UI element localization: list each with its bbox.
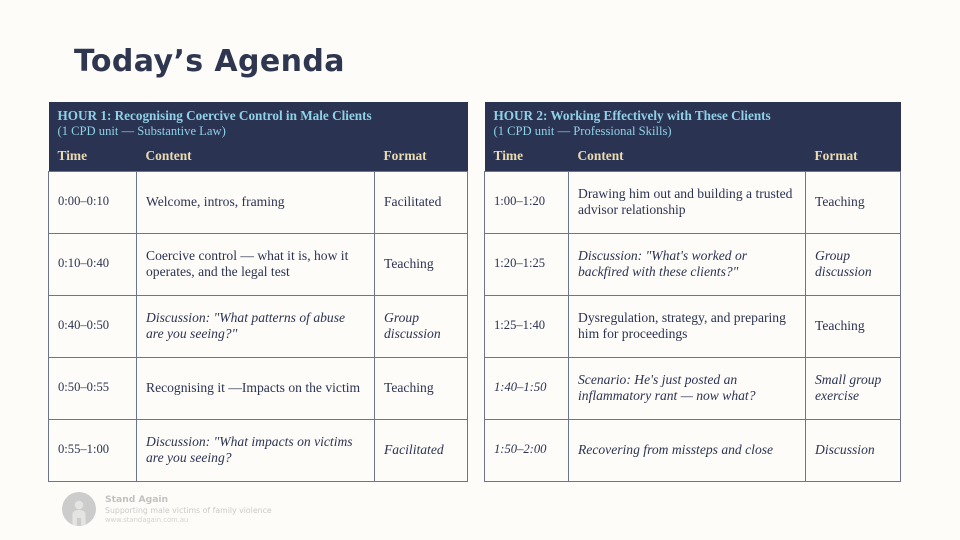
cell-format: Teaching [806, 171, 901, 233]
table-header-title-cell: HOUR 1: Recognising Coercive Control in … [49, 102, 468, 144]
cell-format: Group discussion [806, 233, 901, 295]
table-row: 0:55–1:00 Discussion: "What impacts on v… [49, 419, 468, 481]
table-row: 0:40–0:50 Discussion: "What patterns of … [49, 295, 468, 357]
cell-content: Welcome, intros, framing [137, 171, 375, 233]
table-row: 0:00–0:10 Welcome, intros, framing Facil… [49, 171, 468, 233]
cell-time: 1:00–1:20 [485, 171, 569, 233]
column-header-content: Content [569, 144, 806, 172]
column-header-time: Time [49, 144, 137, 172]
table-row: 1:40–1:50 Scenario: He's just posted an … [485, 357, 901, 419]
cell-format: Discussion [806, 419, 901, 481]
cell-format: Teaching [375, 357, 468, 419]
cell-time: 1:40–1:50 [485, 357, 569, 419]
brand-text-block: Stand Again Supporting male victims of f… [105, 494, 272, 524]
cell-format: Facilitated [375, 171, 468, 233]
column-header-format: Format [806, 144, 901, 172]
cell-content: Recovering from missteps and close [569, 419, 806, 481]
cell-format: Teaching [375, 233, 468, 295]
table-row: 1:20–1:25 Discussion: "What's worked or … [485, 233, 901, 295]
table-header-subtitle: (1 CPD unit — Professional Skills) [494, 124, 892, 139]
cell-format: Facilitated [375, 419, 468, 481]
table-row: 1:25–1:40 Dysregulation, strategy, and p… [485, 295, 901, 357]
cell-format: Teaching [806, 295, 901, 357]
cell-time: 0:55–1:00 [49, 419, 137, 481]
table-row: 1:50–2:00 Recovering from missteps and c… [485, 419, 901, 481]
table-row: 0:50–0:55 Recognising it —Impacts on the… [49, 357, 468, 419]
cell-time: 0:40–0:50 [49, 295, 137, 357]
table-row: 1:00–1:20 Drawing him out and building a… [485, 171, 901, 233]
cell-content: Discussion: "What's worked or backfired … [569, 233, 806, 295]
table-header-title: HOUR 1: Recognising Coercive Control in … [58, 109, 459, 124]
table-header-band: HOUR 1: Recognising Coercive Control in … [49, 102, 468, 144]
table-header-band: HOUR 2: Working Effectively with These C… [485, 102, 901, 144]
cell-content: Drawing him out and building a trusted a… [569, 171, 806, 233]
cell-content: Scenario: He's just posted an inflammato… [569, 357, 806, 419]
cell-content: Coercive control — what it is, how it op… [137, 233, 375, 295]
table-header-subtitle: (1 CPD unit — Substantive Law) [58, 124, 459, 139]
cell-time: 1:20–1:25 [485, 233, 569, 295]
cell-format: Small group exercise [806, 357, 901, 419]
cell-time: 1:25–1:40 [485, 295, 569, 357]
column-header-time: Time [485, 144, 569, 172]
cell-content: Discussion: "What impacts on victims are… [137, 419, 375, 481]
page-title: Today’s Agenda [74, 44, 345, 79]
cell-content: Discussion: "What patterns of abuse are … [137, 295, 375, 357]
column-header-format: Format [375, 144, 468, 172]
column-header-content: Content [137, 144, 375, 172]
agenda-table-hour-2: HOUR 2: Working Effectively with These C… [484, 102, 901, 482]
cell-content: Recognising it —Impacts on the victim [137, 357, 375, 419]
brand-tagline: Supporting male victims of family violen… [105, 506, 272, 516]
brand-name: Stand Again [105, 494, 272, 506]
agenda-table-hour-1: HOUR 1: Recognising Coercive Control in … [48, 102, 468, 482]
brand-url: www.standagain.com.au [105, 516, 272, 525]
cell-format: Group discussion [375, 295, 468, 357]
table-column-header-row: Time Content Format [49, 144, 468, 172]
cell-time: 0:00–0:10 [49, 171, 137, 233]
table-row: 0:10–0:40 Coercive control — what it is,… [49, 233, 468, 295]
table-column-header-row: Time Content Format [485, 144, 901, 172]
footer-brand: Stand Again Supporting male victims of f… [62, 492, 272, 526]
cell-content: Dysregulation, strategy, and preparing h… [569, 295, 806, 357]
cell-time: 1:50–2:00 [485, 419, 569, 481]
table-header-title-cell: HOUR 2: Working Effectively with These C… [485, 102, 901, 144]
person-silhouette-icon [62, 492, 96, 526]
table-header-title: HOUR 2: Working Effectively with These C… [494, 109, 892, 124]
cell-time: 0:50–0:55 [49, 357, 137, 419]
cell-time: 0:10–0:40 [49, 233, 137, 295]
